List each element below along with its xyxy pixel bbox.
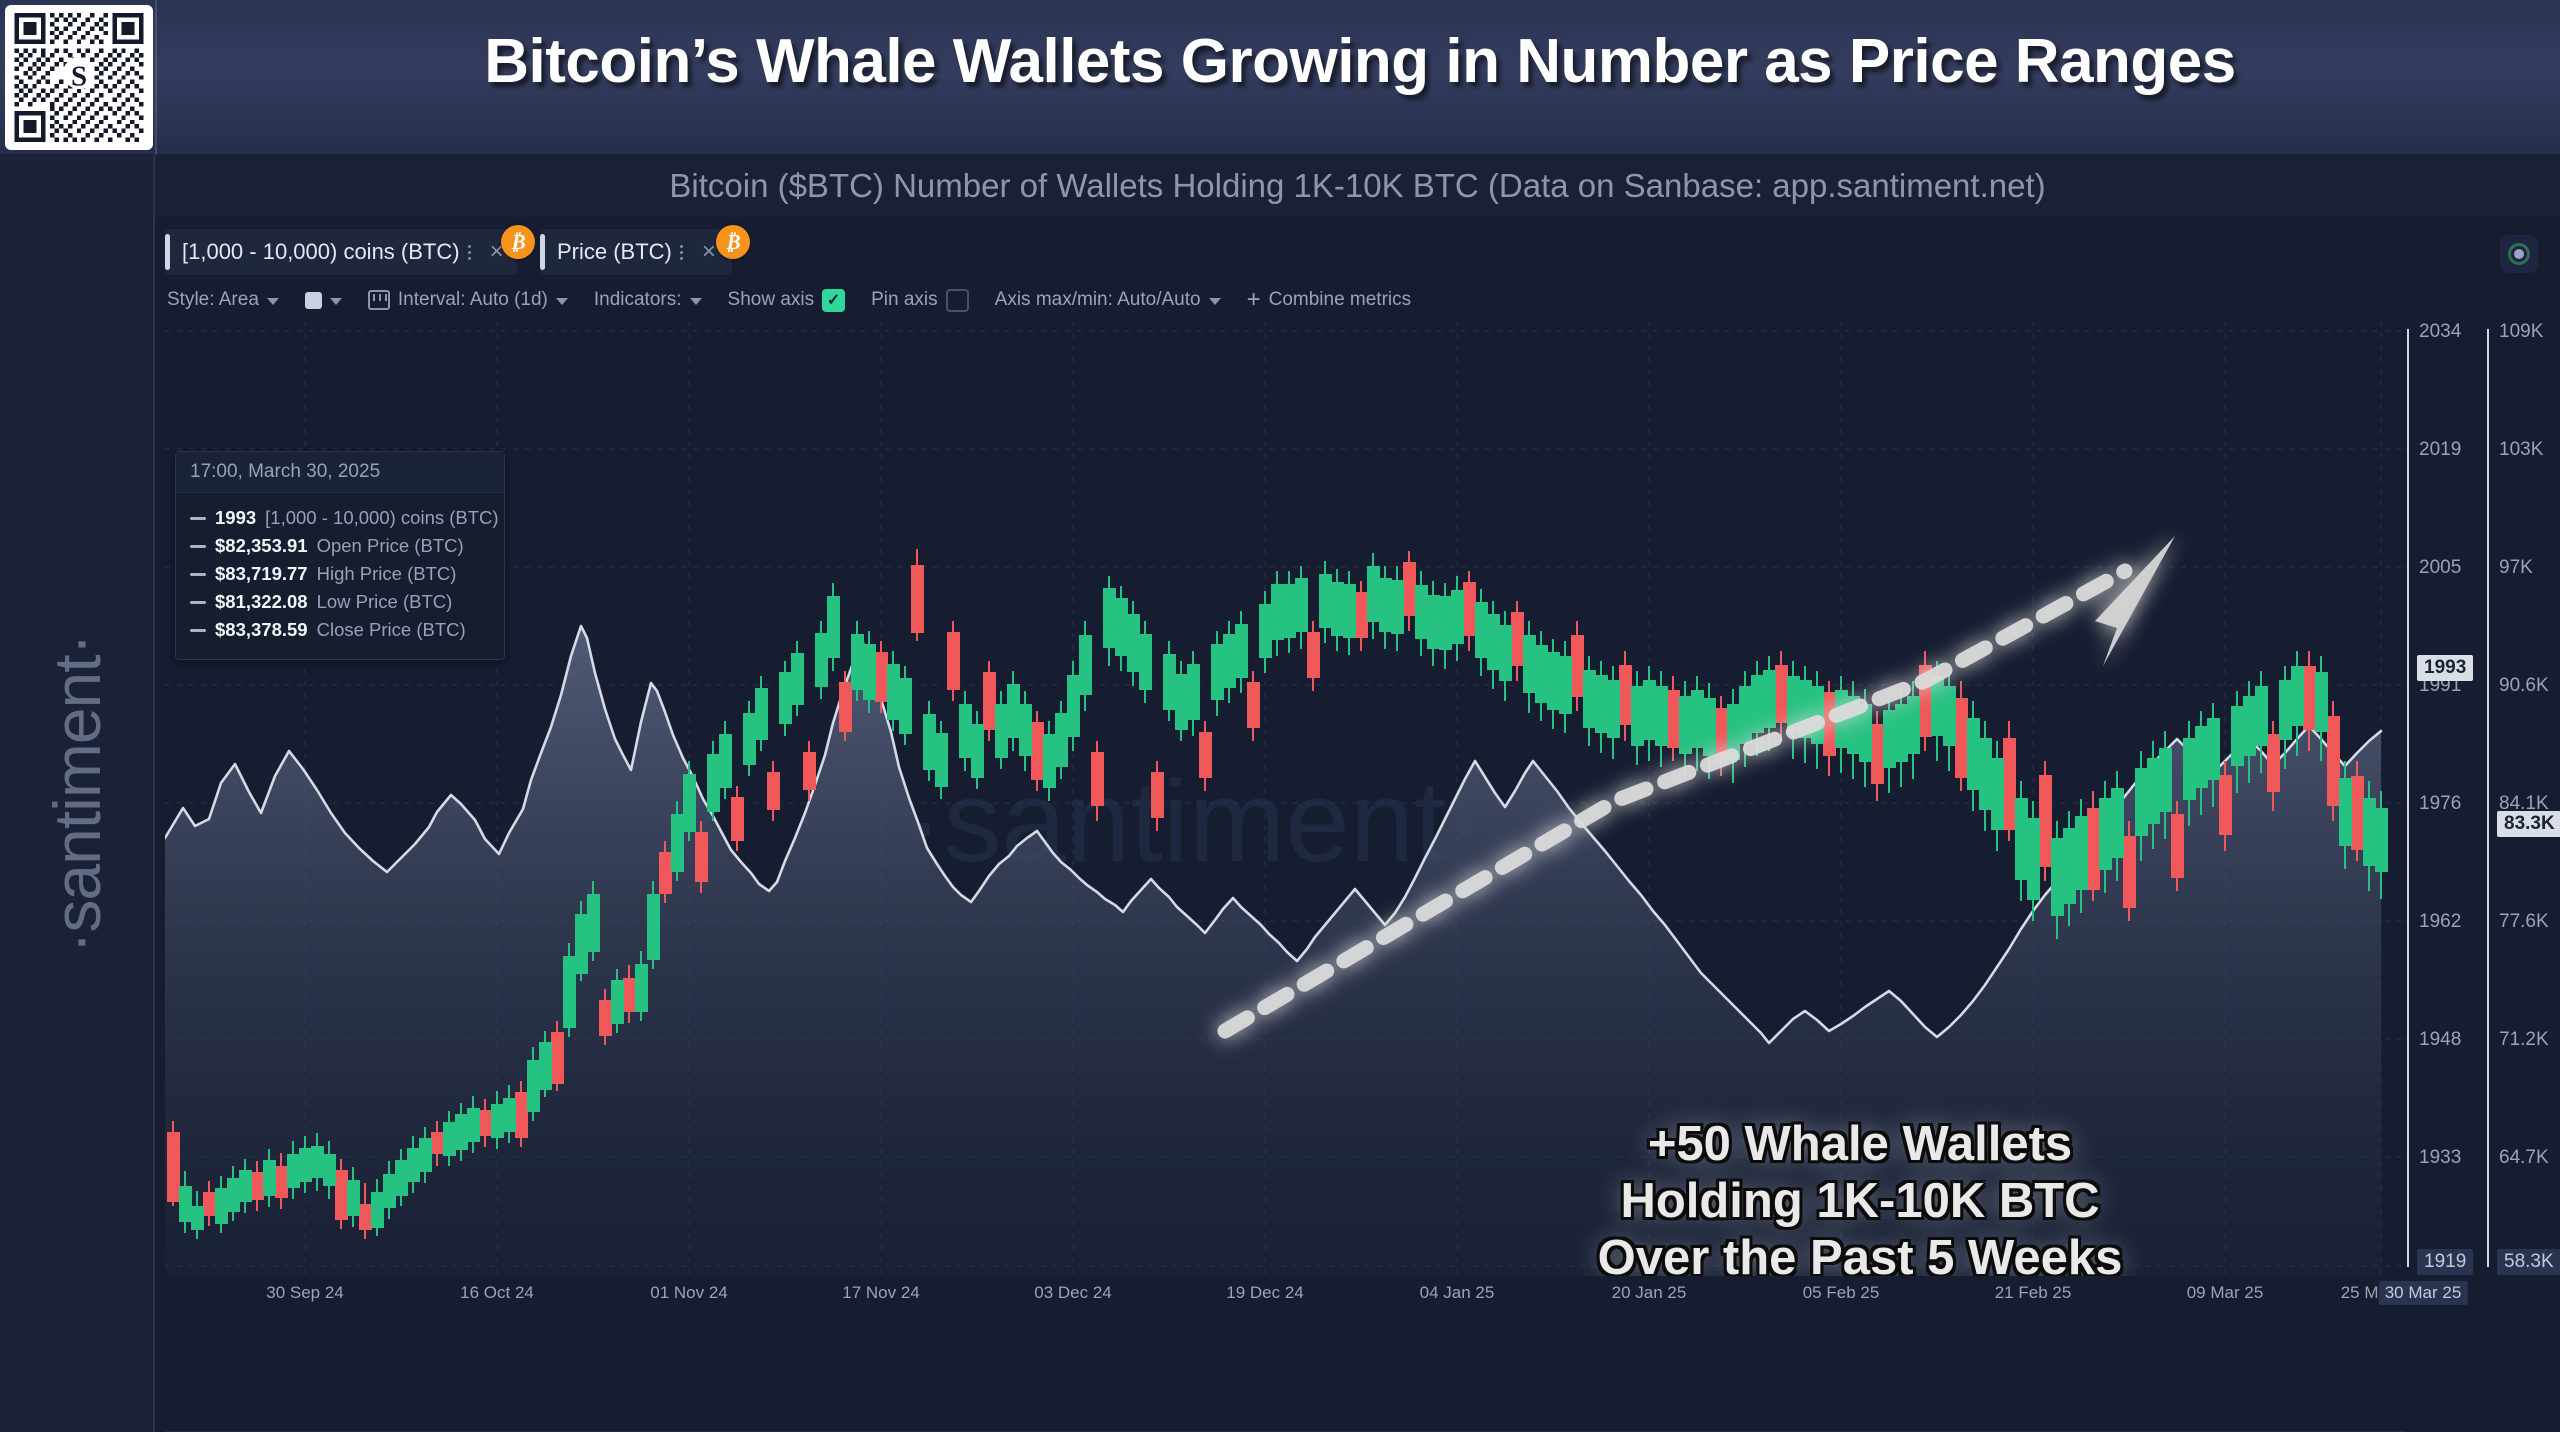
tooltip-label: Open Price (BTC) bbox=[317, 535, 464, 557]
chart-toolbar: Style: Area Interval: Auto (1d) Indicato… bbox=[155, 279, 2560, 321]
series-marker-icon bbox=[190, 573, 206, 576]
axis-tick: 2005 bbox=[2419, 557, 2461, 579]
tooltip-value: 1993 bbox=[215, 507, 256, 529]
axis-tick: 2019 bbox=[2419, 439, 2461, 461]
series-marker-icon bbox=[190, 629, 206, 632]
subtitle-band: Bitcoin ($BTC) Number of Wallets Holding… bbox=[155, 155, 2560, 217]
tooltip-value: $81,322.08 bbox=[215, 591, 308, 613]
axis-tick: 1933 bbox=[2419, 1147, 2461, 1169]
series-marker-icon bbox=[190, 545, 206, 548]
calendar-icon bbox=[368, 290, 390, 310]
cursor-date-badge: 30 Mar 25 bbox=[2379, 1281, 2468, 1305]
chevron-down-icon bbox=[556, 298, 568, 305]
combine-metrics-label: Combine metrics bbox=[1269, 289, 1412, 311]
annotation-line-1: +50 Whale Wallets bbox=[1510, 1116, 2210, 1173]
axis-end-badge: 58.3K bbox=[2497, 1249, 2560, 1275]
tab-color-accent bbox=[540, 234, 545, 270]
chevron-down-icon bbox=[330, 298, 342, 305]
axis-tick: 103K bbox=[2499, 439, 2543, 461]
series-marker-icon bbox=[190, 517, 206, 520]
bitcoin-badge-icon: ₿ bbox=[716, 225, 750, 259]
axis-tick: 90.6K bbox=[2499, 675, 2549, 697]
tooltip-row: $83,719.77 High Price (BTC) bbox=[190, 563, 490, 585]
axis-minmax-dropdown[interactable]: Axis max/min: Auto/Auto bbox=[995, 289, 1221, 311]
chart-plot: ·santiment· bbox=[155, 321, 2560, 1321]
metric-tab-label: [1,000 - 10,000) coins (BTC) bbox=[182, 239, 460, 265]
color-picker[interactable] bbox=[305, 292, 342, 309]
metric-tab-label: Price (BTC) bbox=[557, 239, 672, 265]
cursor-value-badge: 83.3K bbox=[2497, 811, 2560, 837]
x-tick-label: 30 Sep 24 bbox=[266, 1283, 344, 1303]
tooltip-rows: 1993 [1,000 - 10,000) coins (BTC) $82,35… bbox=[176, 493, 504, 659]
record-dot bbox=[2514, 249, 2524, 259]
axis-tick: 77.6K bbox=[2499, 911, 2549, 933]
axis-tick: 97K bbox=[2499, 557, 2533, 579]
cursor-value-badge: 1993 bbox=[2417, 655, 2473, 681]
tooltip-label: Low Price (BTC) bbox=[317, 591, 453, 613]
tooltip-value: $83,719.77 bbox=[215, 563, 308, 585]
page-title: Bitcoin’s Whale Wallets Growing in Numbe… bbox=[170, 26, 2550, 97]
axis-tick: 71.2K bbox=[2499, 1029, 2549, 1051]
interval-dropdown[interactable]: Interval: Auto (1d) bbox=[368, 289, 568, 311]
tooltip-label: High Price (BTC) bbox=[317, 563, 457, 585]
x-tick-label: 05 Feb 25 bbox=[1803, 1283, 1880, 1303]
combine-metrics-button[interactable]: + Combine metrics bbox=[1247, 289, 1412, 311]
header-divider bbox=[155, 0, 157, 155]
qr-code-icon[interactable]: S bbox=[5, 5, 153, 150]
chart-app: [1,000 - 10,000) coins (BTC) × ₿ Price (… bbox=[155, 217, 2560, 1432]
axis-end-badge: 1919 bbox=[2417, 1249, 2473, 1275]
tooltip-timestamp: 17:00, March 30, 2025 bbox=[176, 452, 504, 493]
tooltip-value: $82,353.91 bbox=[215, 535, 308, 557]
series-marker-icon bbox=[190, 601, 206, 604]
x-tick-label: 21 Feb 25 bbox=[1995, 1283, 2072, 1303]
x-tick-label: 01 Nov 24 bbox=[650, 1283, 728, 1303]
style-dropdown[interactable]: Style: Area bbox=[167, 289, 279, 311]
plus-icon: + bbox=[1247, 291, 1261, 309]
pin-axis-label: Pin axis bbox=[871, 289, 938, 311]
axis-line bbox=[2487, 329, 2489, 1267]
annotation-line-2: Holding 1K-10K BTC bbox=[1510, 1173, 2210, 1230]
tooltip-row: $83,378.59 Close Price (BTC) bbox=[190, 619, 490, 641]
axis-line bbox=[2407, 329, 2409, 1267]
annotation-line-3: Over the Past 5 Weeks bbox=[1510, 1230, 2210, 1276]
chevron-down-icon bbox=[267, 298, 279, 305]
chevron-down-icon bbox=[1209, 298, 1221, 305]
show-axis-label: Show axis bbox=[728, 289, 815, 311]
screenshot-root: S Bitcoin’s Whale Wallets Growing in Num… bbox=[0, 0, 2560, 1432]
x-tick-label: 19 Dec 24 bbox=[1226, 1283, 1304, 1303]
metric-tab-price[interactable]: Price (BTC) × ₿ bbox=[540, 229, 732, 275]
indicators-label: Indicators: bbox=[594, 289, 682, 311]
more-icon[interactable] bbox=[672, 242, 692, 263]
interval-label: Interval: Auto (1d) bbox=[398, 289, 548, 311]
show-axis-checkbox[interactable]: ✓ bbox=[822, 289, 845, 312]
tooltip-label: Close Price (BTC) bbox=[317, 619, 466, 641]
x-tick-label: 17 Nov 24 bbox=[842, 1283, 920, 1303]
more-icon[interactable] bbox=[460, 242, 480, 263]
x-tick-label: 03 Dec 24 bbox=[1034, 1283, 1112, 1303]
metric-tab-wallets[interactable]: [1,000 - 10,000) coins (BTC) × ₿ bbox=[165, 229, 517, 275]
santiment-watermark-vertical: ·santiment· bbox=[39, 634, 115, 953]
axis-tick: 64.7K bbox=[2499, 1147, 2549, 1169]
y-axis-price[interactable]: 109K 103K 97K 90.6K 84.1K 77.6K 71.2K 64… bbox=[2487, 321, 2560, 1276]
show-axis-toggle[interactable]: Show axis ✓ bbox=[728, 289, 846, 312]
axis-tick: 109K bbox=[2499, 321, 2543, 343]
tooltip-value: $83,378.59 bbox=[215, 619, 308, 641]
plot-watermark: ·santiment· bbox=[905, 756, 1485, 886]
tooltip-row: $82,353.91 Open Price (BTC) bbox=[190, 535, 490, 557]
pin-axis-toggle[interactable]: Pin axis bbox=[871, 289, 969, 312]
y-axis-wallets[interactable]: 2034 2019 2005 1991 1976 1962 1948 1933 … bbox=[2407, 321, 2485, 1276]
chart-tooltip: 17:00, March 30, 2025 1993 [1,000 - 10,0… bbox=[175, 451, 505, 660]
x-tick-label: 09 Mar 25 bbox=[2187, 1283, 2264, 1303]
page-header: S Bitcoin’s Whale Wallets Growing in Num… bbox=[0, 0, 2560, 155]
x-tick-label: 16 Oct 24 bbox=[460, 1283, 534, 1303]
pin-axis-checkbox[interactable] bbox=[946, 289, 969, 312]
record-ring bbox=[2508, 243, 2530, 265]
metric-tabs: [1,000 - 10,000) coins (BTC) × ₿ Price (… bbox=[155, 217, 2560, 279]
page-subtitle: Bitcoin ($BTC) Number of Wallets Holding… bbox=[155, 167, 2560, 205]
axis-tick: 2034 bbox=[2419, 321, 2461, 343]
axis-minmax-label: Axis max/min: Auto/Auto bbox=[995, 289, 1201, 311]
left-rail: ·santiment· bbox=[0, 155, 155, 1432]
tooltip-label: [1,000 - 10,000) coins (BTC) bbox=[265, 507, 498, 529]
indicators-dropdown[interactable]: Indicators: bbox=[594, 289, 702, 311]
color-swatch-icon bbox=[305, 292, 322, 309]
record-indicator-icon[interactable] bbox=[2500, 235, 2538, 273]
chevron-down-icon bbox=[690, 298, 702, 305]
style-label: Style: Area bbox=[167, 289, 259, 311]
tooltip-row: 1993 [1,000 - 10,000) coins (BTC) bbox=[190, 507, 490, 529]
tooltip-row: $81,322.08 Low Price (BTC) bbox=[190, 591, 490, 613]
tab-color-accent bbox=[165, 234, 170, 270]
axis-tick: 1948 bbox=[2419, 1029, 2461, 1051]
bitcoin-badge-icon: ₿ bbox=[501, 225, 535, 259]
axis-tick: 1976 bbox=[2419, 793, 2461, 815]
chart-canvas[interactable]: ·santiment· bbox=[165, 321, 2405, 1276]
axis-tick: 1962 bbox=[2419, 911, 2461, 933]
svg-text:S: S bbox=[71, 61, 87, 93]
chart-annotation: +50 Whale Wallets Holding 1K-10K BTC Ove… bbox=[1510, 1116, 2210, 1276]
x-tick-label: 20 Jan 25 bbox=[1612, 1283, 1687, 1303]
x-tick-label: 04 Jan 25 bbox=[1420, 1283, 1495, 1303]
x-axis[interactable]: 30 Sep 24 16 Oct 24 01 Nov 24 17 Nov 24 … bbox=[165, 1283, 2405, 1313]
qr-code-svg: S bbox=[13, 13, 145, 142]
